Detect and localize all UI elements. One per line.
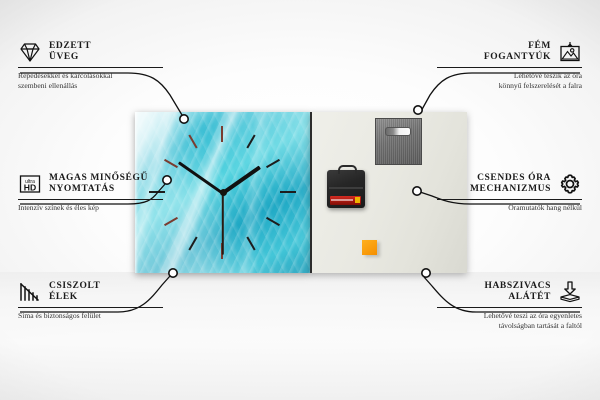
feature-subtitle: Intenzív színek és éles kép bbox=[18, 203, 163, 213]
feature-title: EDZETT ÜVEG bbox=[49, 41, 91, 64]
polished-edges-icon bbox=[18, 280, 42, 304]
second-hand bbox=[222, 193, 224, 255]
feature-subtitle: Óramutatók hang nélkül bbox=[437, 203, 582, 213]
feature-subtitle: Lehetővé teszi az óra egyenletes távolsá… bbox=[437, 311, 582, 330]
feature-silent-mechanism[interactable]: CSENDES ÓRA MECHANIZMUS Óramutatók hang … bbox=[437, 172, 582, 213]
gear-icon bbox=[558, 172, 582, 196]
product-photo bbox=[135, 112, 465, 273]
mechanism-hook bbox=[338, 165, 357, 174]
hour-tick bbox=[221, 126, 223, 142]
feature-title: FÉM FOGANTYÚK bbox=[484, 41, 551, 64]
foam-pad-icon bbox=[558, 280, 582, 304]
metal-hanger bbox=[375, 118, 422, 165]
hour-tick bbox=[280, 191, 296, 193]
feature-divider bbox=[18, 307, 163, 308]
feature-tempered-glass[interactable]: EDZETT ÜVEG Repedésekkel és karcolásokka… bbox=[18, 40, 163, 90]
feature-title: HABSZIVACS ALÁTÉT bbox=[484, 281, 551, 304]
infographic-canvas: EDZETT ÜVEG Repedésekkel és karcolásokka… bbox=[0, 0, 600, 400]
feature-header: EDZETT ÜVEG bbox=[18, 40, 163, 64]
foam-pad bbox=[362, 240, 377, 255]
feature-divider bbox=[437, 199, 582, 200]
feature-header: ultra HD MAGAS MINŐSÉGŰ NYOMTATÁS bbox=[18, 172, 163, 196]
feature-header: CSISZOLT ÉLEK bbox=[18, 280, 163, 304]
quartz-mechanism bbox=[327, 170, 365, 208]
battery bbox=[330, 196, 361, 205]
feature-divider bbox=[437, 67, 582, 68]
feature-subtitle: Lehetővé teszik az óra könnyű felszerelé… bbox=[437, 71, 582, 90]
feature-title: MAGAS MINŐSÉGŰ NYOMTATÁS bbox=[49, 173, 148, 196]
clock-center-cap bbox=[220, 189, 227, 196]
feature-subtitle: Repedésekkel és karcolásokkal szembeni e… bbox=[18, 71, 163, 90]
feature-subtitle: Sima és biztonságos felület bbox=[18, 311, 163, 321]
feature-header: HABSZIVACS ALÁTÉT bbox=[437, 280, 582, 304]
mechanism-seam bbox=[329, 187, 363, 189]
feature-foam-pad[interactable]: HABSZIVACS ALÁTÉT Lehetővé teszi az óra … bbox=[437, 280, 582, 330]
feature-high-quality-print[interactable]: ultra HD MAGAS MINŐSÉGŰ NYOMTATÁS Intenz… bbox=[18, 172, 163, 213]
feature-divider bbox=[437, 307, 582, 308]
svg-text:HD: HD bbox=[24, 182, 36, 192]
feature-metal-handles[interactable]: FÉM FOGANTYÚK Lehetővé teszik az óra kön… bbox=[437, 40, 582, 90]
hanger-keyhole-slot bbox=[385, 127, 411, 136]
feature-header: CSENDES ÓRA MECHANIZMUS bbox=[437, 172, 582, 196]
feature-divider bbox=[18, 199, 163, 200]
feature-title: CSISZOLT ÉLEK bbox=[49, 281, 100, 304]
feature-divider bbox=[18, 67, 163, 68]
feature-title: CSENDES ÓRA MECHANIZMUS bbox=[470, 173, 551, 196]
picture-hanger-icon bbox=[558, 40, 582, 64]
feature-header: FÉM FOGANTYÚK bbox=[437, 40, 582, 64]
feature-polished-edges[interactable]: CSISZOLT ÉLEK Sima és biztonságos felüle… bbox=[18, 280, 163, 321]
diamond-icon bbox=[18, 40, 42, 64]
ultra-hd-icon: ultra HD bbox=[18, 172, 42, 196]
